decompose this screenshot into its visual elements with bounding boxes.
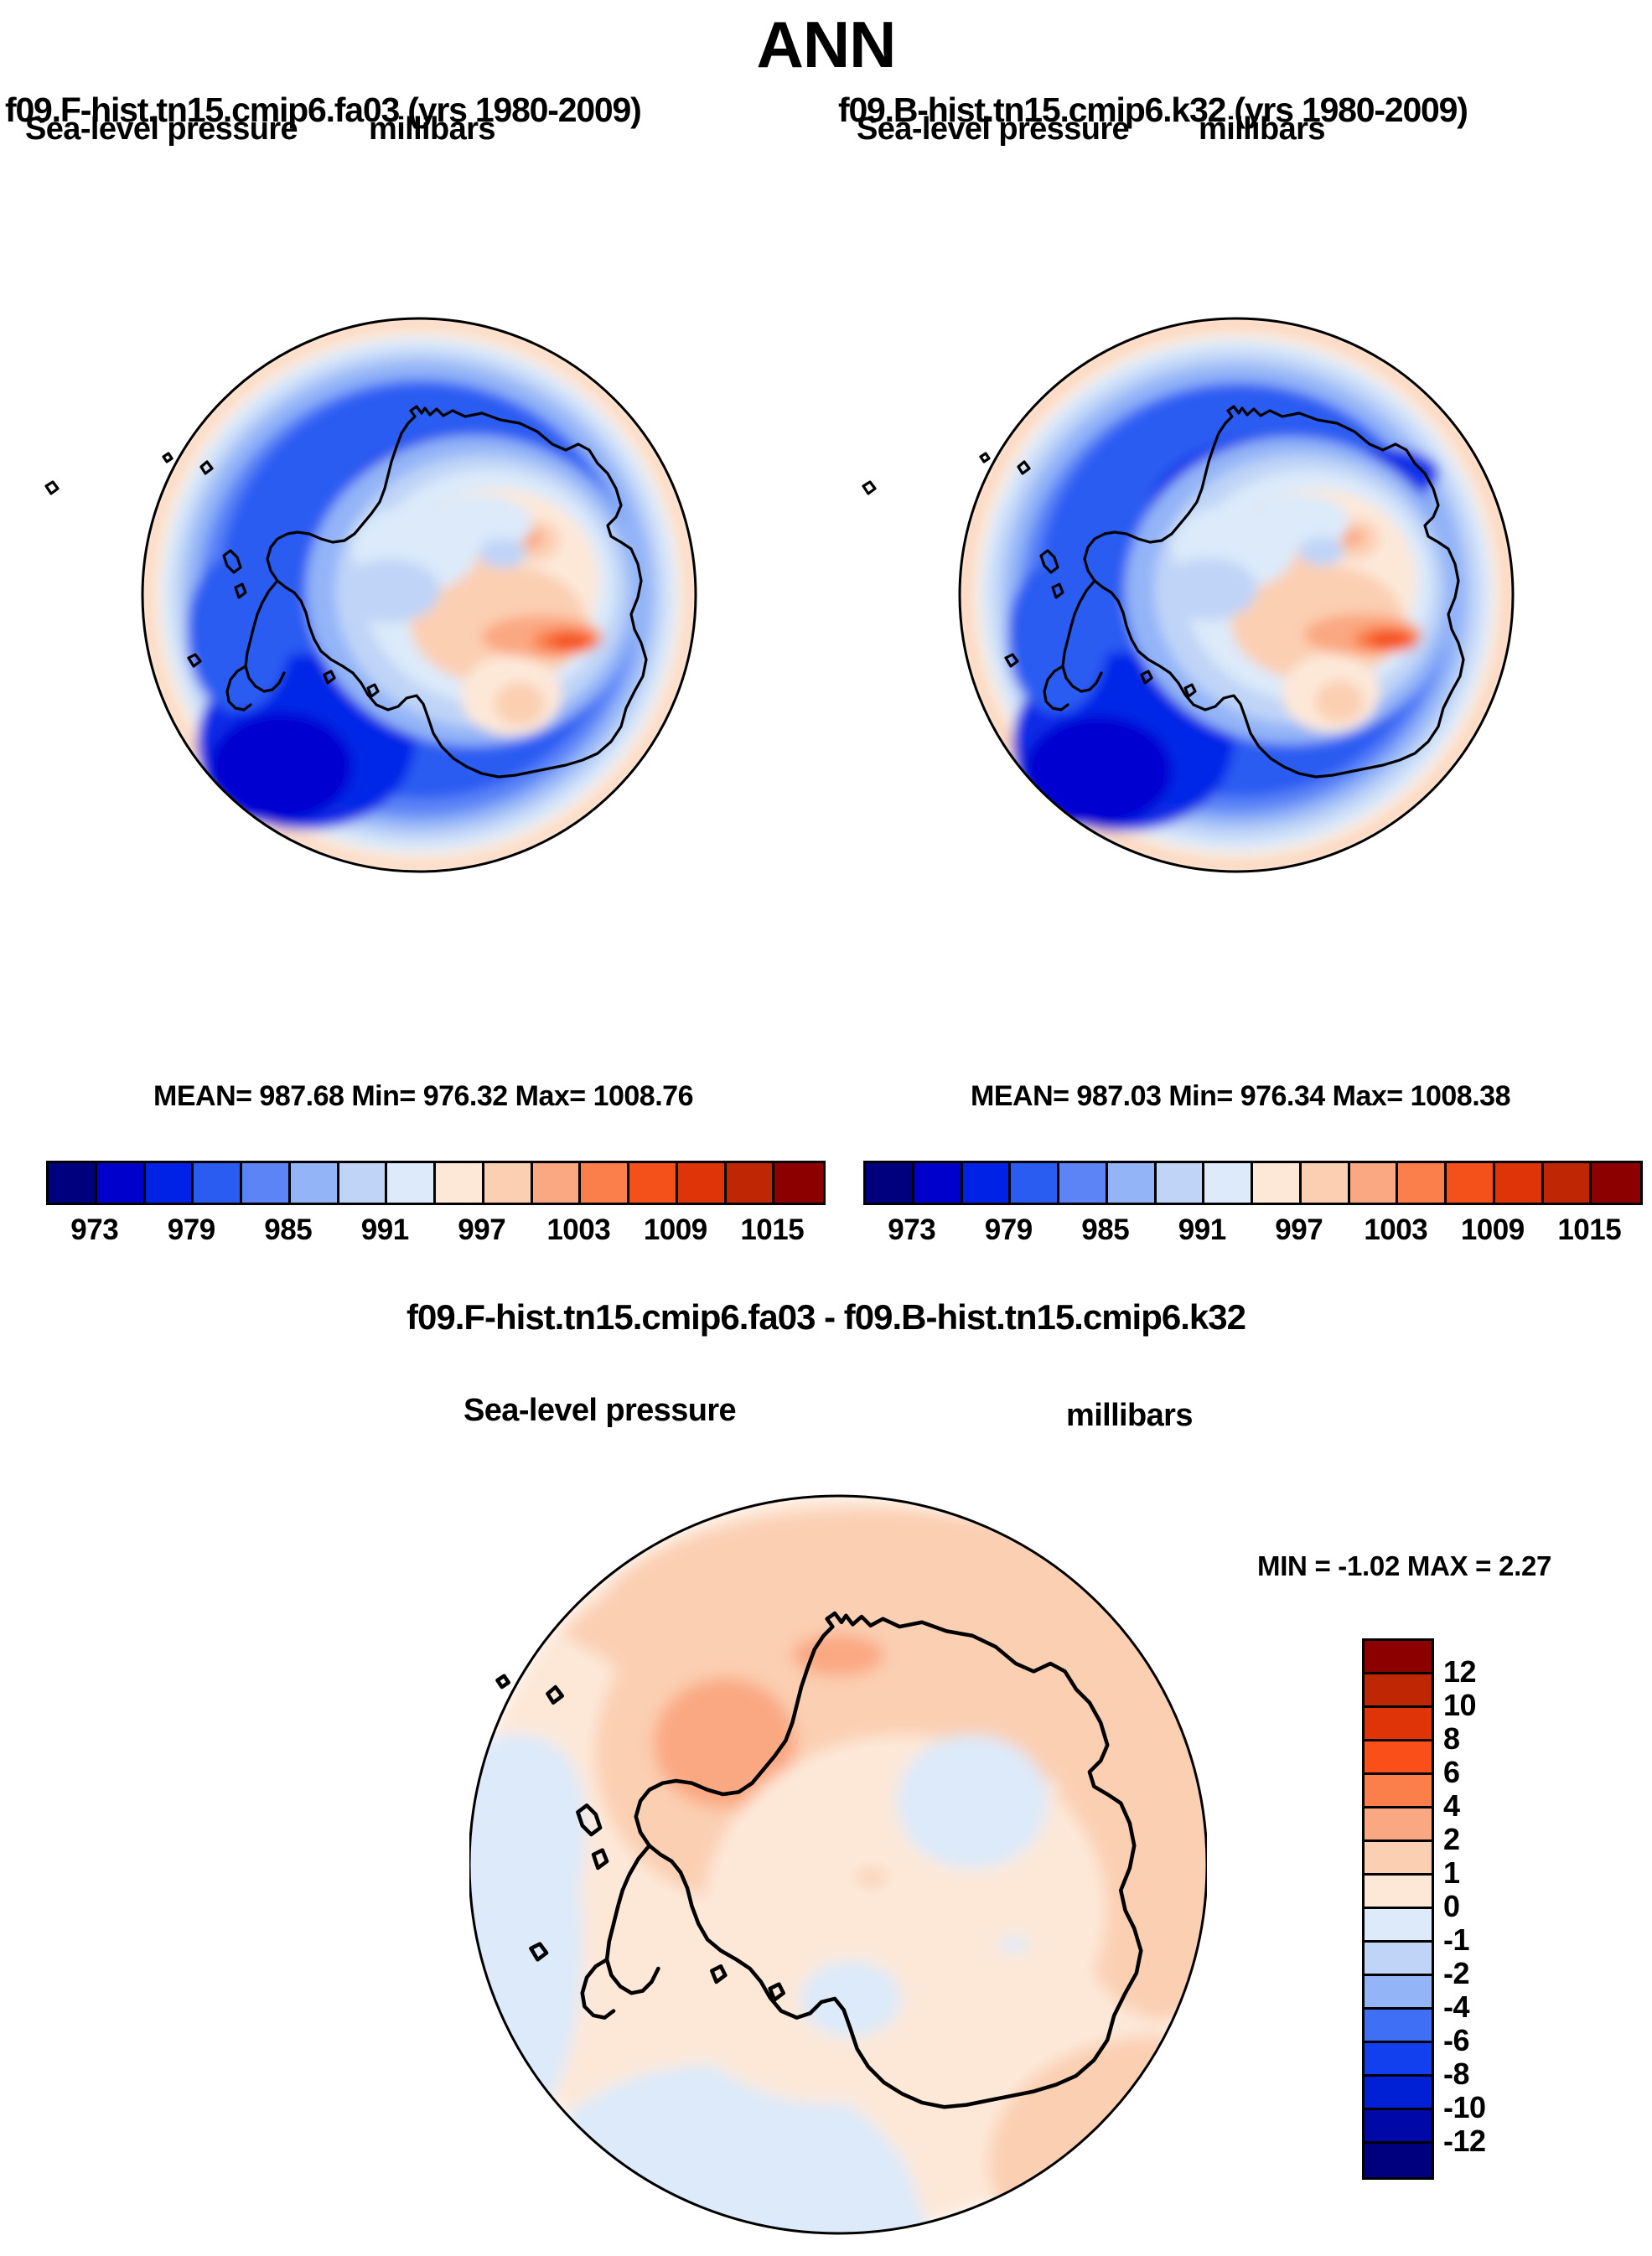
colorbar-tick-label: 1003: [546, 1213, 610, 1247]
colorbar-tick-label: 10: [1443, 1688, 1476, 1723]
colorbar-segment: [1365, 1775, 1432, 1808]
colorbar-tick-label: 985: [1081, 1213, 1129, 1247]
colorbar-segment: [1365, 2010, 1432, 2043]
colorbar-segment: [963, 1163, 1012, 1203]
colorbar-tick-label: 985: [264, 1213, 312, 1247]
colorbar-tick-label: 991: [361, 1213, 409, 1247]
colorbar-tick-label: 1009: [1461, 1213, 1525, 1247]
colorbar-tick-label: 4: [1443, 1788, 1460, 1824]
colorbar-segment: [194, 1163, 242, 1203]
colorbar-tick-label: 997: [458, 1213, 505, 1247]
right-stats: MEAN= 987.03 Min= 976.34 Max= 1008.38: [817, 1080, 1652, 1113]
colorbar-difference: [1362, 1638, 1434, 2180]
colorbar-segment: [1059, 1163, 1108, 1203]
colorbar-segment: [866, 1163, 914, 1203]
diff-minmax-label: MIN = -1.02 MAX = 2.27: [1257, 1550, 1551, 1582]
colorbar-segment: [774, 1163, 823, 1203]
colorbar-segment: [146, 1163, 194, 1203]
colorbar-segment: [1447, 1163, 1495, 1203]
diff-units-label: millibars: [1066, 1398, 1193, 1434]
colorbar-left: [46, 1161, 826, 1205]
colorbar-segment: [1365, 1909, 1432, 1943]
colorbar-tick-label: 1015: [1557, 1213, 1621, 1247]
colorbar-segment: [1365, 1876, 1432, 1909]
colorbar-tick-label: 1003: [1364, 1213, 1427, 1247]
colorbar-segment: [914, 1163, 963, 1203]
colorbar-segment: [1365, 2110, 1432, 2144]
colorbar-segment: [727, 1163, 775, 1203]
colorbar-segment: [1365, 1842, 1432, 1876]
colorbar-segment: [484, 1163, 533, 1203]
colorbar-segment: [291, 1163, 339, 1203]
colorbar-segment: [1592, 1163, 1640, 1203]
colorbar-segment: [678, 1163, 727, 1203]
colorbar-segment: [387, 1163, 436, 1203]
colorbar-tick-label: 2: [1443, 1822, 1460, 1857]
map-difference-sea-level-pressure: [469, 1475, 1207, 2254]
colorbar-tick-label: -12: [1443, 2124, 1486, 2159]
colorbar-segment: [339, 1163, 388, 1203]
colorbar-tick-label: 973: [888, 1213, 935, 1247]
right-variable-label: Sea-level pressure: [857, 111, 1129, 147]
colorbar-segment: [1365, 1674, 1432, 1708]
colorbar-segment: [581, 1163, 629, 1203]
colorbar-segment: [1365, 2043, 1432, 2077]
colorbar-segment: [1365, 2077, 1432, 2110]
colorbar-tick-label: 0: [1443, 1889, 1460, 1924]
colorbar-segment: [1398, 1163, 1447, 1203]
colorbar-tick-label: -4: [1443, 1990, 1469, 2025]
left-stats: MEAN= 987.68 Min= 976.32 Max= 1008.76: [0, 1080, 847, 1113]
colorbar-tick-label: -2: [1443, 1956, 1469, 1991]
colorbar-tick-label: -10: [1443, 2090, 1486, 2125]
colorbar-tick-label: -6: [1443, 2023, 1469, 2058]
colorbar-segment: [49, 1163, 97, 1203]
colorbar-segment: [1365, 1976, 1432, 2010]
map-right-sea-level-pressure: [847, 155, 1626, 1052]
colorbar-tick-label: 997: [1275, 1213, 1323, 1247]
colorbar-tick-label: 979: [168, 1213, 215, 1247]
colorbar-segment: [1365, 1808, 1432, 1842]
page-title: ANN: [0, 7, 1652, 83]
colorbar-segment: [1544, 1163, 1592, 1203]
colorbar-segment: [242, 1163, 291, 1203]
right-units-label: millibars: [1199, 111, 1325, 147]
colorbar-segment: [629, 1163, 678, 1203]
difference-title: f09.F-hist.tn15.cmip6.fa03 - f09.B-hist.…: [0, 1297, 1652, 1338]
colorbar-tick-label: 979: [985, 1213, 1033, 1247]
colorbar-tick-label: 991: [1178, 1213, 1226, 1247]
colorbar-segment: [1302, 1163, 1350, 1203]
colorbar-right: [863, 1161, 1643, 1205]
colorbar-segment: [533, 1163, 582, 1203]
colorbar-segment: [1365, 2144, 1432, 2177]
colorbar-tick-label: 6: [1443, 1755, 1460, 1790]
colorbar-segment: [1495, 1163, 1544, 1203]
colorbar-segment: [1365, 1741, 1432, 1775]
colorbar-segment: [1350, 1163, 1399, 1203]
colorbar-segment: [436, 1163, 484, 1203]
colorbar-segment: [1253, 1163, 1302, 1203]
diff-variable-label: Sea-level pressure: [463, 1393, 736, 1429]
colorbar-segment: [1365, 1708, 1432, 1741]
colorbar-tick-label: 1009: [644, 1213, 707, 1247]
left-variable-label: Sea-level pressure: [25, 111, 298, 147]
colorbar-tick-label: 1: [1443, 1855, 1460, 1891]
colorbar-tick-label: 8: [1443, 1721, 1460, 1757]
colorbar-segment: [1204, 1163, 1253, 1203]
colorbar-tick-label: 12: [1443, 1654, 1476, 1689]
colorbar-segment: [1011, 1163, 1059, 1203]
colorbar-segment: [97, 1163, 146, 1203]
colorbar-segment: [1108, 1163, 1157, 1203]
colorbar-tick-label: 973: [70, 1213, 118, 1247]
colorbar-segment: [1157, 1163, 1205, 1203]
map-left-sea-level-pressure: [29, 155, 809, 1052]
colorbar-segment: [1365, 1641, 1432, 1674]
colorbar-segment: [1365, 1943, 1432, 1976]
colorbar-tick-label: -1: [1443, 1922, 1469, 1958]
colorbar-tick-label: -8: [1443, 2057, 1469, 2092]
colorbar-tick-label: 1015: [740, 1213, 804, 1247]
left-units-label: millibars: [369, 111, 495, 147]
